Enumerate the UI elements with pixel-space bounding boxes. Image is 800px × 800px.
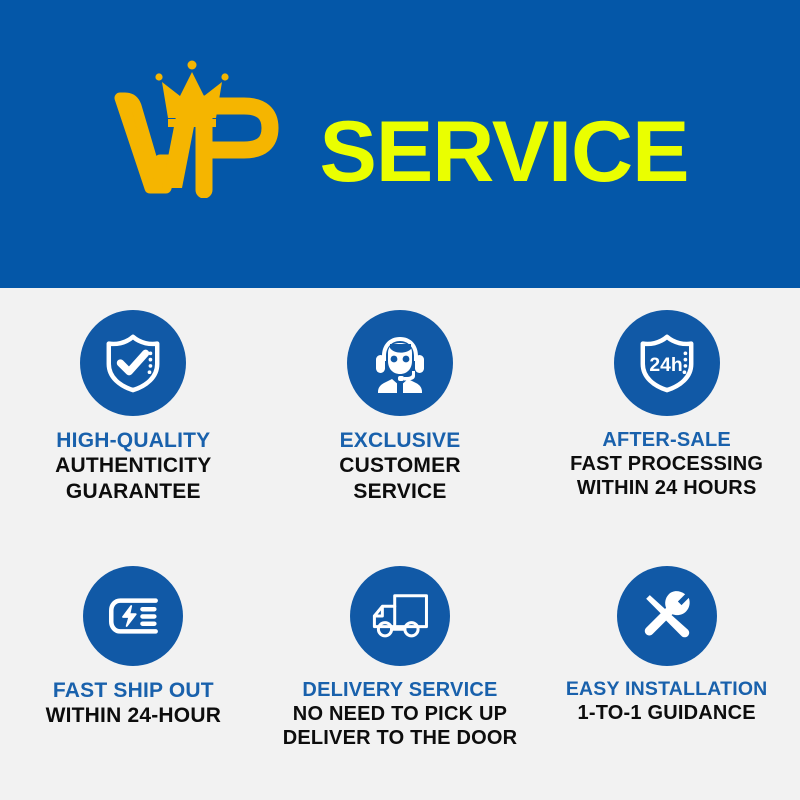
shield-24h-label: 24h: [649, 354, 682, 376]
feature-icon-circle: [80, 310, 186, 416]
delivery-truck-icon: [370, 587, 430, 645]
feature-labels: EASY INSTALLATION 1-TO-1 GUIDANCE: [533, 678, 800, 726]
feature-delivery-service: DELIVERY SERVICE NO NEED TO PICK UP DELI…: [267, 544, 534, 800]
package-lightning-icon: [104, 587, 162, 645]
vip-service-logo: SERVICE: [112, 48, 689, 198]
features-grid: HIGH-QUALITY AUTHENTICITY GUARANTEE: [0, 288, 800, 800]
feature-line-1: CUSTOMER: [267, 453, 534, 479]
feature-labels: HIGH-QUALITY AUTHENTICITY GUARANTEE: [0, 428, 267, 504]
feature-icon-circle: [350, 566, 450, 666]
feature-line-1: WITHIN 24-HOUR: [0, 703, 267, 729]
feature-fast-ship-out: FAST SHIP OUT WITHIN 24-HOUR: [0, 544, 267, 800]
feature-icon-circle: [347, 310, 453, 416]
feature-title: EASY INSTALLATION: [533, 678, 800, 701]
feature-line-2: SERVICE: [267, 479, 534, 505]
feature-title: HIGH-QUALITY: [0, 428, 267, 453]
feature-title: AFTER-SALE: [533, 428, 800, 452]
feature-line-1: NO NEED TO PICK UP: [267, 702, 534, 726]
vip-wordmark: [112, 48, 324, 198]
feature-line-2: WITHIN 24 HOURS: [533, 476, 800, 500]
headset-agent-icon: [368, 331, 432, 395]
feature-labels: AFTER-SALE FAST PROCESSING WITHIN 24 HOU…: [533, 428, 800, 501]
feature-icon-circle: [83, 566, 183, 666]
feature-high-quality: HIGH-QUALITY AUTHENTICITY GUARANTEE: [0, 288, 267, 544]
feature-after-sale: 24h AFTER-SALE FAST PROCESSING WITHIN 24…: [533, 288, 800, 544]
feature-labels: FAST SHIP OUT WITHIN 24-HOUR: [0, 678, 267, 729]
feature-easy-installation: EASY INSTALLATION 1-TO-1 GUIDANCE: [533, 544, 800, 800]
feature-line-1: AUTHENTICITY: [0, 453, 267, 479]
feature-icon-circle: [617, 566, 717, 666]
shield-check-icon: [102, 332, 164, 394]
wrench-screwdriver-icon: [638, 587, 696, 645]
feature-title: FAST SHIP OUT: [0, 678, 267, 703]
feature-exclusive: EXCLUSIVE CUSTOMER SERVICE: [267, 288, 534, 544]
feature-line-2: GUARANTEE: [0, 479, 267, 505]
shield-24h-icon: 24h: [636, 332, 698, 394]
feature-labels: EXCLUSIVE CUSTOMER SERVICE: [267, 428, 534, 504]
vip-letter-p-bowl: [204, 106, 270, 150]
feature-line-1: 1-TO-1 GUIDANCE: [533, 701, 800, 725]
vip-logo-graphic: [112, 48, 324, 198]
feature-line-2: DELIVER TO THE DOOR: [267, 726, 534, 750]
vip-letter-i: [162, 106, 198, 188]
feature-title: EXCLUSIVE: [267, 428, 534, 453]
feature-title: DELIVERY SERVICE: [267, 678, 534, 702]
logo-service-text: SERVICE: [320, 116, 689, 190]
feature-line-1: FAST PROCESSING: [533, 452, 800, 476]
feature-icon-circle: 24h: [614, 310, 720, 416]
header-banner: SERVICE: [0, 0, 800, 288]
feature-labels: DELIVERY SERVICE NO NEED TO PICK UP DELI…: [267, 678, 534, 751]
vip-service-banner-page: SERVICE HIGH-QUALITY AUTHENTICITY GUARAN…: [0, 0, 800, 800]
